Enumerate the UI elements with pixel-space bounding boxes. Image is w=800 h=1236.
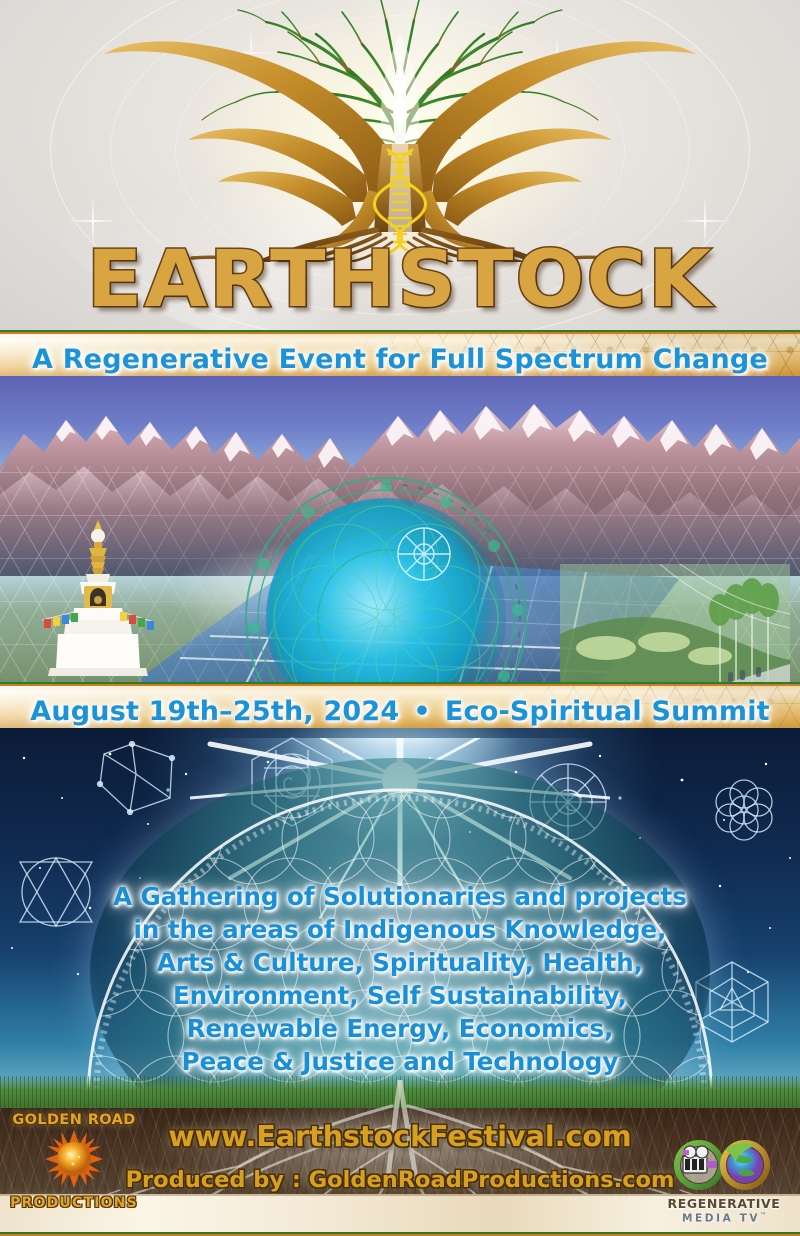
body-line-5: Renewable Energy, Economics, — [0, 1012, 800, 1045]
body-line-3: Arts & Culture, Spirituality, Health, — [0, 946, 800, 979]
separator-dot: • — [413, 696, 430, 727]
golden-road-bottom-text: PRODUCTIONS — [4, 1195, 144, 1211]
film-camera-globe-icon — [661, 1140, 787, 1190]
body-line-1: A Gathering of Solutionaries and project… — [0, 880, 800, 913]
winged-tree-of-life-logo — [0, 0, 800, 262]
trunk-glow-soft — [381, 34, 419, 144]
earthstock-poster: EARTHSTOCK A Regenerative Event for Full… — [0, 0, 800, 1236]
header-logo-section: EARTHSTOCK — [0, 0, 800, 330]
event-subtitle: Eco-Spiritual Summit — [445, 696, 770, 727]
landscape-section — [0, 376, 800, 688]
body-line-6: Peace & Justice and Technology — [0, 1045, 800, 1078]
trademark-symbol: ™ — [760, 1212, 766, 1219]
poster-title-wrap: EARTHSTOCK — [0, 236, 800, 324]
body-line-4: Environment, Self Sustainability, — [0, 979, 800, 1012]
event-dates: August 19th–25th, 2024 — [30, 696, 399, 727]
eco-city — [560, 564, 790, 688]
teal-mandala — [232, 464, 540, 688]
buddhist-stupa — [40, 516, 156, 676]
body-line-2: in the areas of Indigenous Knowledge, — [0, 913, 800, 946]
golden-road-top-text: GOLDEN ROAD — [4, 1112, 144, 1128]
golden-road-productions-logo[interactable]: GOLDEN ROAD — [4, 1112, 144, 1230]
regen-media-name: REGENERATIVE — [656, 1196, 792, 1211]
body-copy: A Gathering of Solutionaries and project… — [0, 880, 800, 1078]
regen-media-sub-text: MEDIA TV — [682, 1213, 760, 1225]
regenerative-media-tv-logo[interactable]: REGENERATIVE MEDIA TV™ — [656, 1140, 792, 1232]
regen-media-sub: MEDIA TV™ — [656, 1212, 792, 1225]
poster-title: EARTHSTOCK — [0, 236, 800, 324]
sun-icon — [45, 1130, 103, 1188]
